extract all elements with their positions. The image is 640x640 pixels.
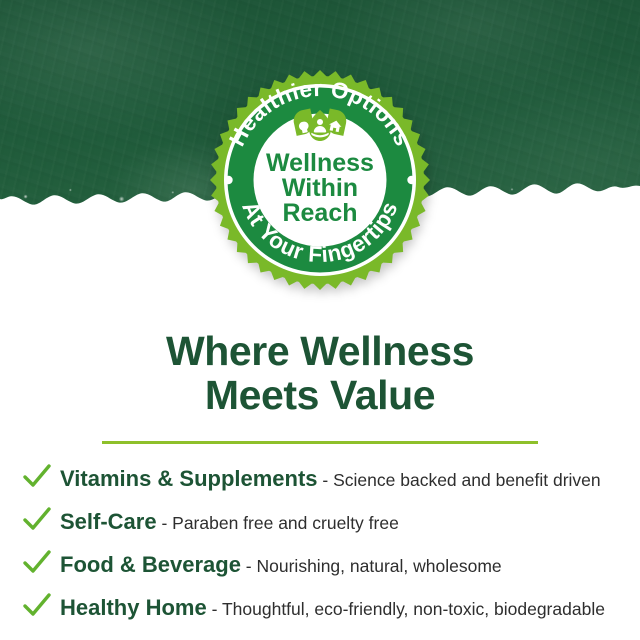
list-item-category: Vitamins & Supplements: [60, 466, 318, 491]
check-icon: [22, 463, 52, 491]
list-item: Self-Care - Paraben free and cruelty fre…: [22, 501, 622, 544]
list-item-separator: -: [318, 470, 334, 490]
check-icon: [22, 506, 52, 534]
list-item-category: Self-Care: [60, 509, 157, 534]
list-item: Healthy Home - Thoughtful, eco-friendly,…: [22, 587, 622, 630]
title-divider: [102, 441, 538, 444]
wellness-seal-badge: Healthier Options At Your Fingertips: [210, 70, 430, 290]
headline-line-2: Meets Value: [0, 374, 640, 418]
benefits-list: Vitamins & Supplements - Science backed …: [22, 458, 622, 630]
check-icon: [22, 549, 52, 577]
list-item-text: Self-Care - Paraben free and cruelty fre…: [60, 508, 399, 537]
list-item-text: Food & Beverage - Nourishing, natural, w…: [60, 551, 502, 580]
seal-separator-dot-left: [224, 176, 232, 184]
list-item-description: Paraben free and cruelty free: [172, 513, 399, 533]
headline-line-1: Where Wellness: [166, 328, 474, 374]
list-item-text: Healthy Home - Thoughtful, eco-friendly,…: [60, 594, 605, 623]
list-item-description: Nourishing, natural, wholesome: [257, 556, 502, 576]
list-item: Food & Beverage - Nourishing, natural, w…: [22, 544, 622, 587]
check-icon: [22, 592, 52, 620]
seal-center-line-1: Wellness: [266, 149, 374, 177]
list-item-text: Vitamins & Supplements - Science backed …: [60, 465, 601, 494]
list-item-category: Healthy Home: [60, 595, 207, 620]
seal-center-line-2: Within: [282, 174, 358, 202]
list-item-separator: -: [157, 513, 173, 533]
list-item-separator: -: [241, 556, 257, 576]
seal-separator-dot-right: [407, 176, 415, 184]
list-item-description: Thoughtful, eco-friendly, non-toxic, bio…: [222, 599, 605, 619]
list-item: Vitamins & Supplements - Science backed …: [22, 458, 622, 501]
list-item-description: Science backed and benefit driven: [333, 470, 601, 490]
promo-poster: Healthier Options At Your Fingertips: [0, 0, 640, 640]
page-title: Where Wellness Meets Value: [0, 330, 640, 418]
seal-center-line-3: Reach: [282, 199, 357, 227]
list-item-category: Food & Beverage: [60, 552, 241, 577]
list-item-separator: -: [207, 599, 222, 619]
